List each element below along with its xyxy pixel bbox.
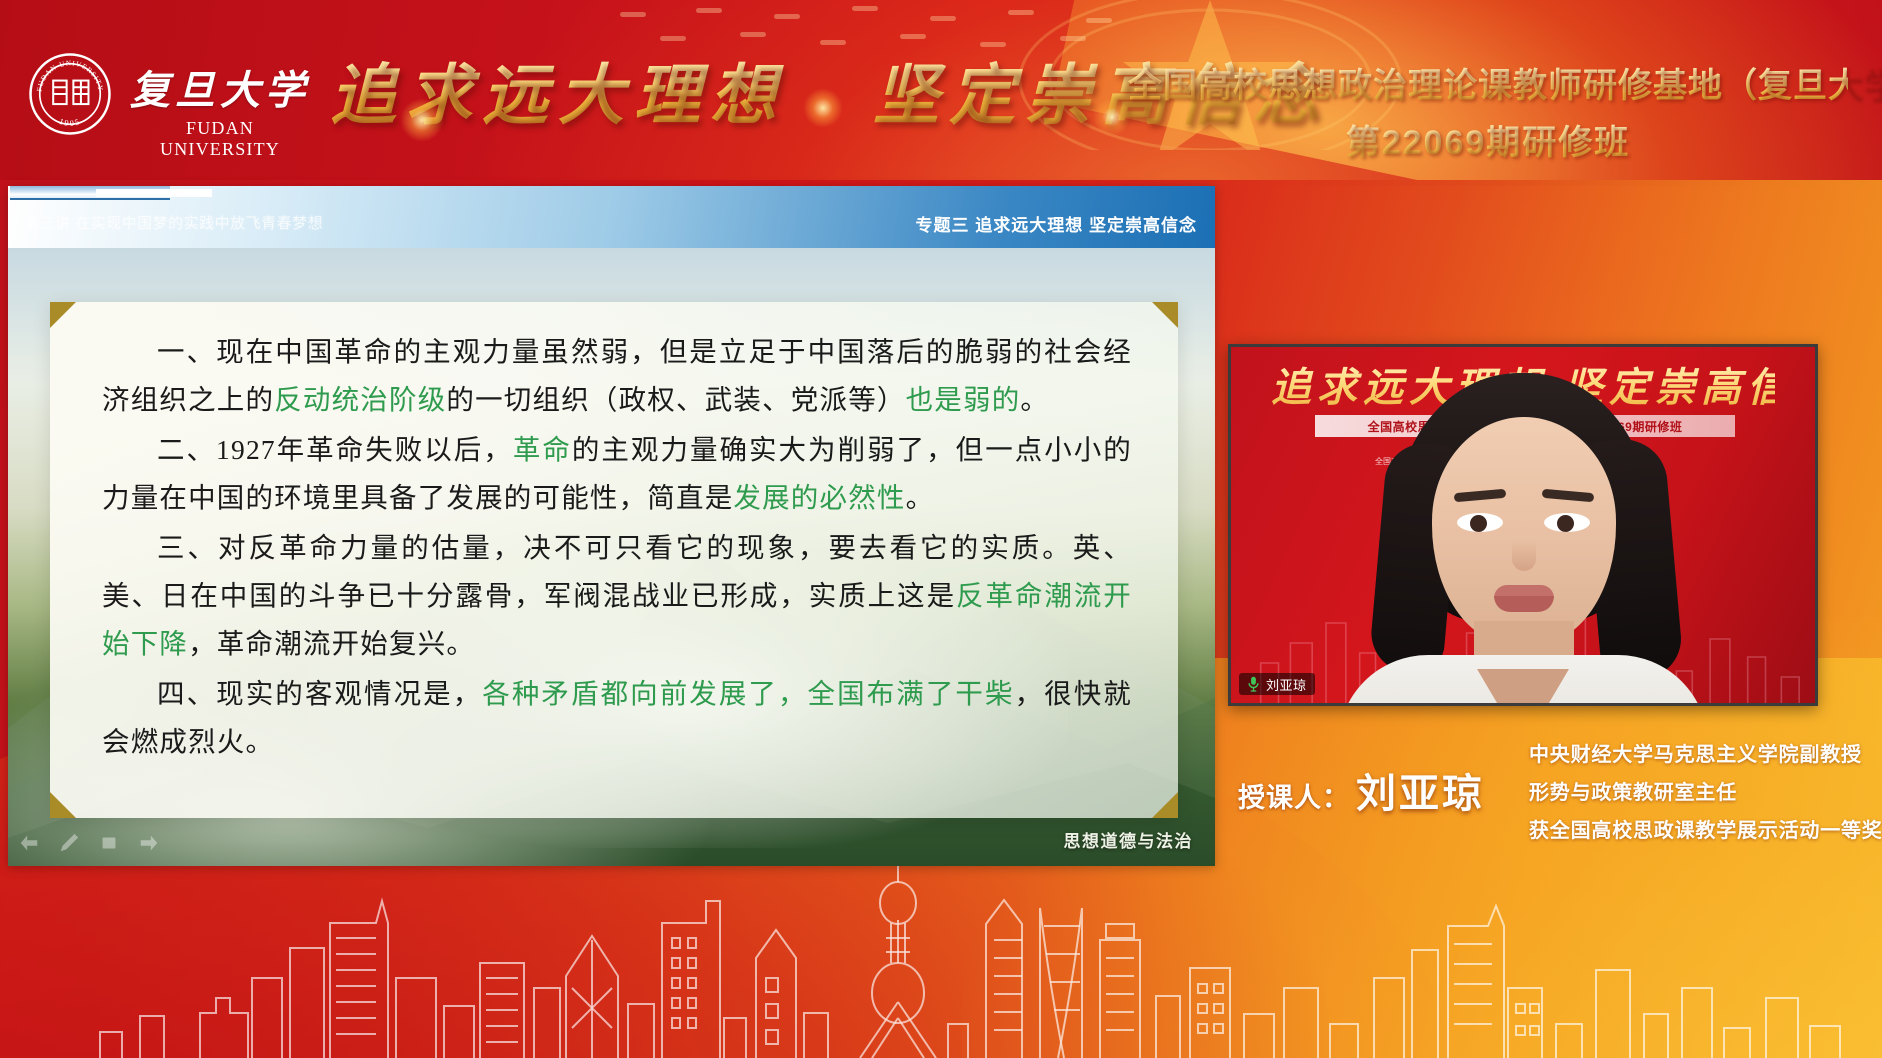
live-stream-viewer: FUDAN UNIVERSITY 1905 复旦大学 FUDAN UNIVERS… [0,0,1882,1058]
person-pupil [1557,515,1574,532]
presenter-credential-line: 形势与政策教研室主任 [1529,776,1882,805]
card-corner-bottom-left-icon [50,792,76,818]
fudan-name-en: FUDAN UNIVERSITY [130,118,310,160]
person-eye-right [1544,513,1590,532]
slide-annotation-toolbar[interactable] [18,832,160,854]
participant-name-tag: 刘亚琼 [1239,673,1315,695]
slide-footer-label: 思想道德与法治 [1064,827,1194,852]
stop-icon[interactable] [98,832,120,854]
arrow-left-icon[interactable] [18,832,40,854]
highlighted-text: 反动统治阶级 [274,384,446,415]
slide-header-left: 第三讲 在实现中国梦的实践中放飞青春梦想 [24,212,323,233]
participant-name-label: 刘亚琼 [1266,675,1307,694]
slide-body-text: 一、现在中国革命的主观力量虽然弱，但是立足于中国落后的脆弱的社会经济组织之上的反… [102,328,1132,768]
presenter-credentials: 中央财经大学马克思主义学院副教授 形势与政策教研室主任 获全国高校思政课教学展示… [1529,738,1882,843]
slide-photo-background: 一、现在中国革命的主观力量虽然弱，但是立足于中国落后的脆弱的社会经济组织之上的反… [8,248,1215,866]
event-title-block: 全国高校思想政治理论课教师研修基地（复旦大学） 第22069期研修班 [1128,58,1848,164]
screen-share-slide[interactable]: 第三讲 在实现中国梦的实践中放飞青春梦想 专题三 追求远大理想 坚定崇高信念 一… [8,186,1215,866]
svg-text:1905: 1905 [58,117,82,128]
microphone-icon [1247,676,1260,692]
presenter-info-strip: 授课人： 刘亚琼 中央财经大学马克思主义学院副教授 形势与政策教研室主任 获全国… [1238,738,1878,842]
highlighted-text: 发展的必然性 [733,482,905,513]
presenter-name-block: 授课人： 刘亚琼 [1238,761,1485,819]
slide-paragraph: 一、现在中国革命的主观力量虽然弱，但是立足于中国落后的脆弱的社会经济组织之上的反… [102,328,1132,424]
slide-paragraph: 四、现实的客观情况是，各种矛盾都向前发展了，全国布满了干柴，很快就会燃成烈火。 [102,670,1132,766]
body-text: 。 [906,482,935,513]
slide-paragraph: 三、对反革命力量的估量，决不可只看它的现象，要去看它的实质。英、美、日在中国的斗… [102,524,1132,668]
event-title-line-2: 第22069期研修班 [1128,115,1848,164]
slide-text-card: 一、现在中国革命的主观力量虽然弱，但是立足于中国落后的脆弱的社会经济组织之上的反… [50,302,1178,818]
person-collar-vee [1477,669,1569,706]
fudan-wordmark: 复旦大学 FUDAN UNIVERSITY [130,58,310,160]
person-eye-left [1457,513,1503,532]
body-text: ，革命潮流开始复兴。 [188,628,475,659]
body-text: 的一切组织（政权、武装、党派等） [446,384,905,415]
person-lower-lip [1494,596,1554,612]
fudan-name-cn: 复旦大学 [130,58,310,116]
slide-paragraph: 二、1927年革命失败以后，革命的主观力量确实大为削弱了，但一点小小的力量在中国… [102,426,1132,522]
presenter-name: 刘亚琼 [1356,761,1485,819]
slide-progress-fill [96,189,212,197]
arrow-right-icon[interactable] [138,832,160,854]
pen-icon[interactable] [58,832,80,854]
participant-webcam-person [1308,373,1738,706]
body-text: 。 [1020,384,1049,415]
card-corner-bottom-right-icon [1152,792,1178,818]
fudan-university-logo: FUDAN UNIVERSITY 1905 [28,52,112,136]
presenter-credential-line: 中央财经大学马克思主义学院副教授 [1529,738,1882,767]
presenter-credential-line: 获全国高校思政课教学展示活动一等奖 [1529,814,1882,843]
highlighted-text: 革命 [513,434,572,465]
person-pupil [1470,515,1487,532]
highlighted-text: 各种矛盾都向前发展了，全国布满了干柴 [482,678,1014,709]
participant-video-tile[interactable]: 追求远大理想 坚定崇高信念 全国高校思想政治理论课教师研修基地 第22069期研… [1228,344,1818,706]
highlighted-text: 也是弱的 [906,384,1021,415]
body-text: 二、1927年革命失败以后， [157,434,513,465]
slide-header-right: 专题三 追求远大理想 坚定崇高信念 [916,211,1197,236]
slide-progress-tab [10,186,170,200]
presenter-label: 授课人： [1238,776,1350,815]
event-title-line-1: 全国高校思想政治理论课教师研修基地（复旦大学） [1128,58,1848,107]
card-corner-top-left-icon [50,302,76,328]
person-nose [1512,541,1536,571]
calligraphy-part-1: 追求远大理想 [330,60,786,133]
card-corner-top-right-icon [1152,302,1178,328]
body-text: 四、现实的客观情况是， [157,678,482,709]
event-banner-header: FUDAN UNIVERSITY 1905 复旦大学 FUDAN UNIVERS… [0,0,1882,180]
